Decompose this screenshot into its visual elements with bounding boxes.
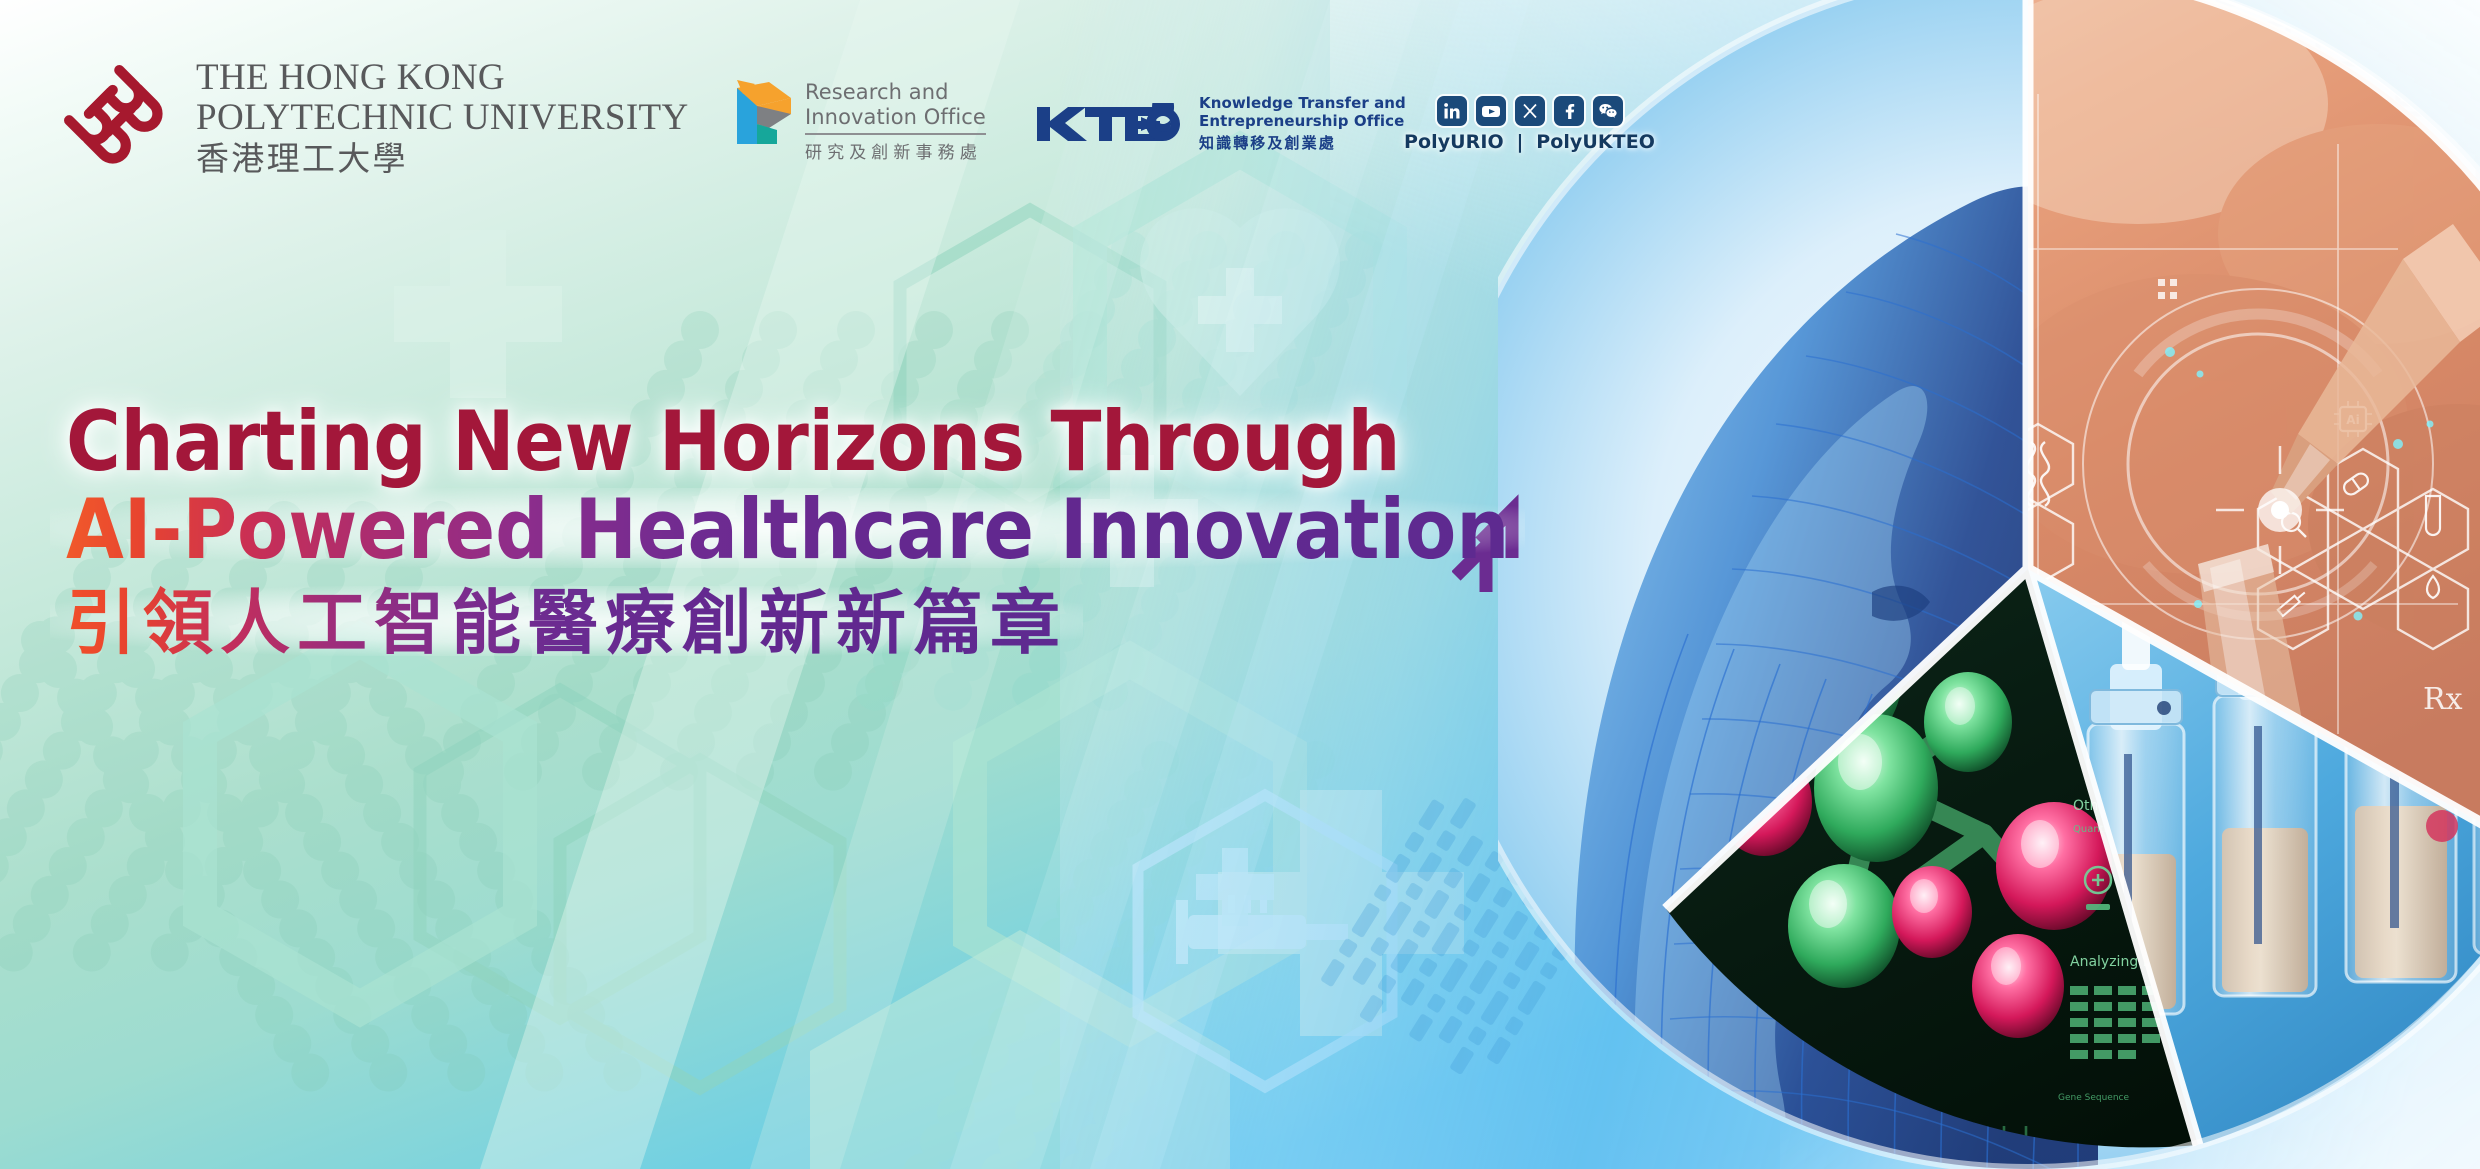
header-logo-row: THE HONG KONG POLYTECHNIC UNIVERSITY 香港理… [0,0,1640,180]
banner-root: Ai Ai Rx [0,0,2480,1169]
polyu-name-chinese: 香港理工大學 [196,139,689,179]
polyu-logo[interactable]: THE HONG KONG POLYTECHNIC UNIVERSITY 香港理… [62,58,689,179]
handle-kteo[interactable]: PolyUKTEO [1536,131,1655,153]
headline-line-2-text: AI-Powered Healthcare Innovation [66,481,1509,578]
rio-divider [805,133,986,135]
rio-arrow-logo [735,80,793,146]
circular-image-collage: Ai Ai Rx [1498,0,2480,1169]
rx-label: Rx [2423,682,2463,717]
handle-separator: | [1516,131,1523,153]
social-icon-row [1437,96,1623,126]
social-handles: PolyURIO | PolyUKTEO [1404,131,1655,153]
svg-text:Gene Sequence: Gene Sequence [2058,1093,2129,1103]
kteo-name-line1: Knowledge Transfer and [1199,95,1406,113]
headline-line-2: AI-Powered Healthcare Innovation [66,486,1566,574]
kteo-wordmark [1035,103,1185,145]
x-twitter-icon[interactable] [1515,96,1545,126]
rio-name-chinese: 研究及創新事務處 [805,138,986,163]
rio-logo[interactable]: Research and Innovation Office 研究及創新事務處 [735,80,986,163]
handle-rio[interactable]: PolyURIO [1404,131,1504,153]
headline-line-3-text: 引領人工智能醫療創新新篇章 [66,582,1067,664]
headline-block: Charting New Horizons Through AI-Powered… [66,398,1566,662]
kteo-logo[interactable]: Knowledge Transfer and Entrepreneurship … [1035,95,1406,153]
social-links: PolyURIO | PolyUKTEO [1404,96,1655,153]
linkedin-icon[interactable] [1437,96,1467,126]
youtube-icon[interactable] [1476,96,1506,126]
rio-name-line1: Research and [805,80,986,105]
headline-line-1: Charting New Horizons Through [66,398,1566,486]
rio-name-line2: Innovation Office [805,105,986,130]
polyu-name-line2: POLYTECHNIC UNIVERSITY [196,98,689,138]
facebook-icon[interactable] [1554,96,1584,126]
kteo-name-chinese: 知識轉移及創業處 [1199,132,1406,153]
kteo-name-line2: Entrepreneurship Office [1199,113,1406,131]
polyu-name-line1: THE HONG KONG [196,58,689,98]
polyu-knot-logo [62,63,174,175]
headline-line-3-chinese: 引領人工智能醫療創新新篇章 [66,584,1566,662]
wechat-icon[interactable] [1593,96,1623,126]
